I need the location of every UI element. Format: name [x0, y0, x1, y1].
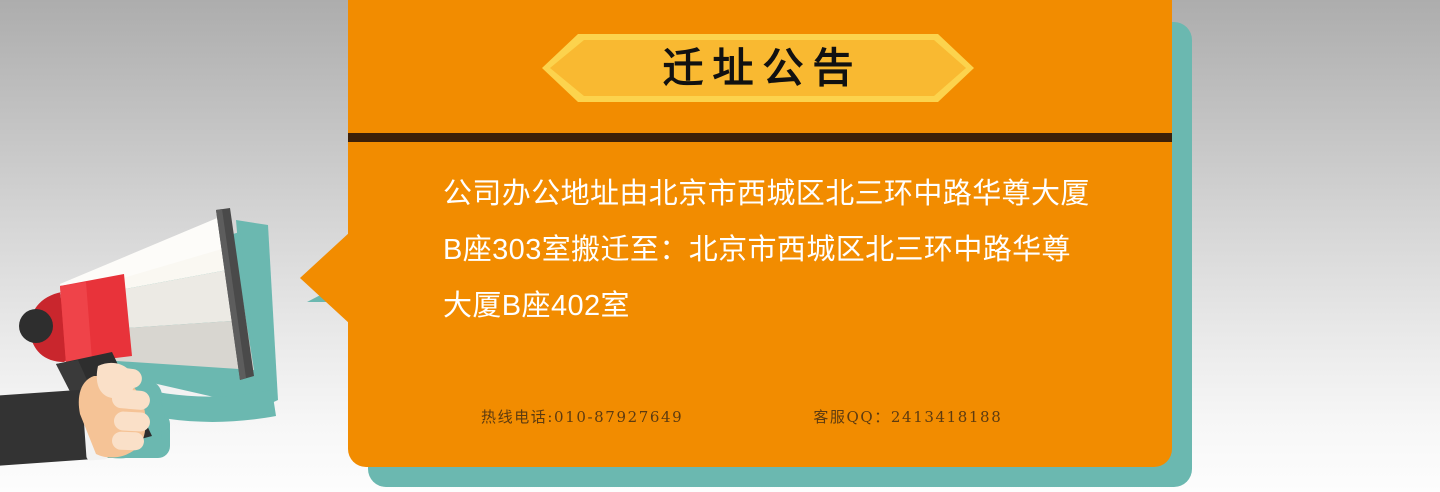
megaphone-knob — [19, 309, 53, 343]
announcement-banner: 迁址公告 公司办公地址由北京市西城区北三环中路华尊大厦B座303室搬迁至：北京市… — [0, 0, 1440, 492]
announcement-body: 公司办公地址由北京市西城区北三环中路华尊大厦B座303室搬迁至：北京市西城区北三… — [443, 166, 1093, 334]
megaphone-illustration — [0, 180, 330, 492]
announcement-paragraph: 公司办公地址由北京市西城区北三环中路华尊大厦B座303室搬迁至：北京市西城区北三… — [443, 166, 1093, 334]
contact-footer: 热线电话:010-87927649 客服QQ：2413418188 — [443, 406, 1093, 427]
hotline-phone: 热线电话:010-87927649 — [481, 406, 683, 427]
page-title: 迁址公告 — [654, 48, 863, 89]
title-ribbon: 迁址公告 — [540, 32, 976, 104]
header-divider — [348, 133, 1172, 142]
customer-service-qq: 客服QQ：2413418188 — [813, 406, 1002, 427]
